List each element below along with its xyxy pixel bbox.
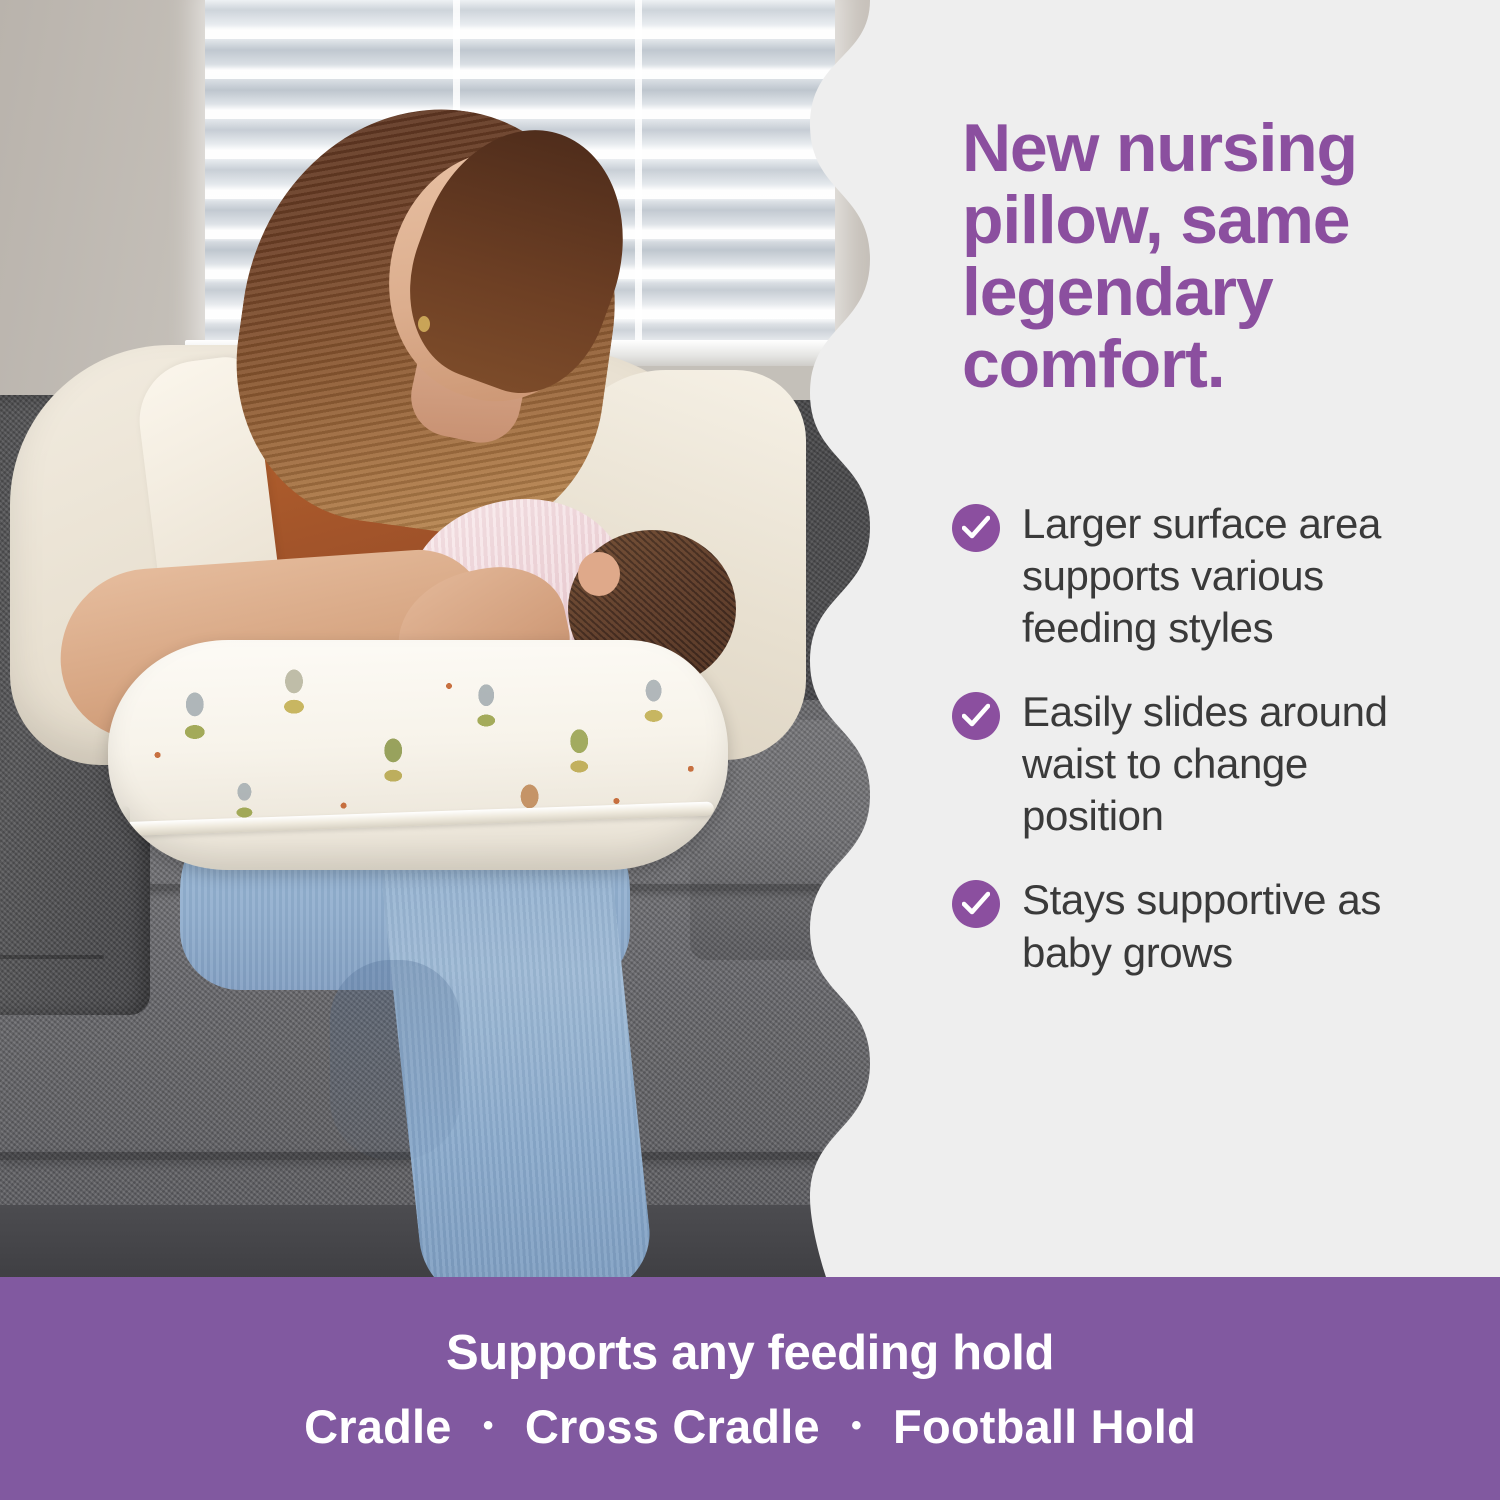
check-circle-icon: [952, 504, 1000, 552]
banner-title: Supports any feeding hold: [0, 1277, 1500, 1381]
check-circle-icon: [952, 692, 1000, 740]
lifestyle-photo: [0, 0, 880, 1277]
list-item: Easily slides around waist to change pos…: [952, 686, 1452, 842]
list-item: Stays supportive as baby grows: [952, 874, 1452, 978]
feature-text-panel: New nursing pillow, same legendary comfo…: [880, 0, 1500, 1277]
feature-label: Larger surface area supports various fee…: [1022, 498, 1452, 654]
separator-dot: •: [851, 1409, 862, 1443]
product-feature-card: New nursing pillow, same legendary comfo…: [0, 0, 1500, 1500]
pillow-pattern: [108, 640, 728, 870]
list-item: Larger surface area supports various fee…: [952, 498, 1452, 654]
feature-label: Stays supportive as baby grows: [1022, 874, 1452, 978]
sofa-armrest-seam: [0, 955, 104, 959]
check-circle-icon: [952, 880, 1000, 928]
hold-name-cross-cradle: Cross Cradle: [525, 1400, 820, 1453]
feeding-hold-banner: Supports any feeding hold Cradle • Cross…: [0, 1277, 1500, 1500]
window-mullion: [635, 0, 642, 350]
baby-ear: [578, 552, 620, 596]
knee-shadow: [330, 960, 460, 1160]
hold-name-cradle: Cradle: [304, 1400, 451, 1453]
hold-name-football-hold: Football Hold: [893, 1400, 1196, 1453]
feature-list: Larger surface area supports various fee…: [952, 498, 1452, 1011]
page-title: New nursing pillow, same legendary comfo…: [962, 112, 1432, 400]
lifestyle-photo-panel: [0, 0, 880, 1277]
feature-label: Easily slides around waist to change pos…: [1022, 686, 1452, 842]
earring: [418, 316, 430, 332]
pillow-zipper-pull: [110, 806, 130, 832]
separator-dot: •: [483, 1409, 494, 1443]
nursing-pillow: [108, 640, 728, 870]
banner-holds-list: Cradle • Cross Cradle • Football Hold: [0, 1381, 1500, 1454]
